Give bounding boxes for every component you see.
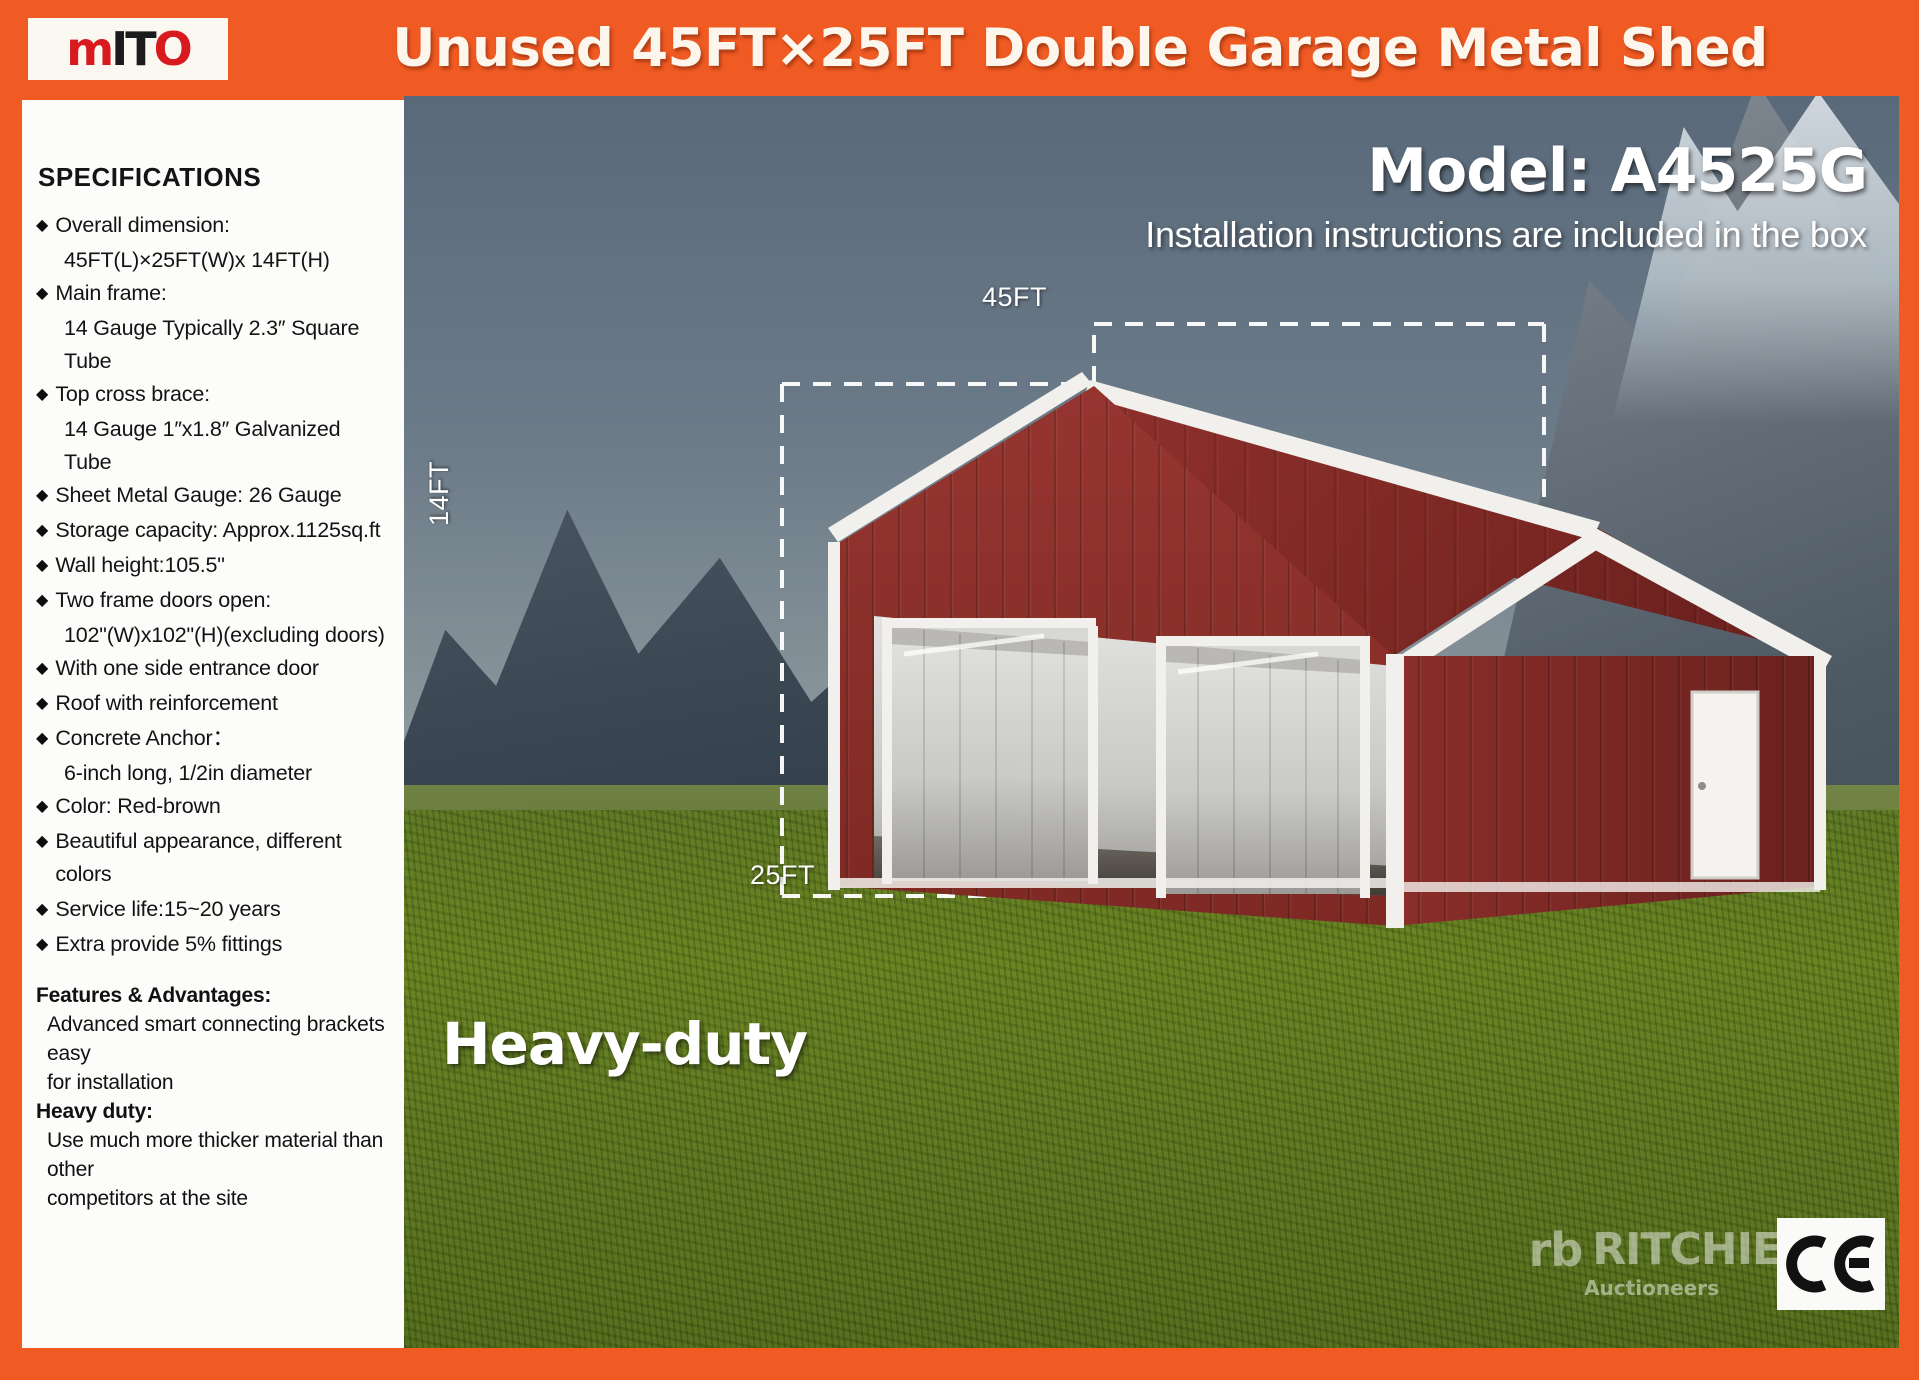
features-body-line: Advanced smart connecting brackets easy xyxy=(47,1010,392,1068)
spec-detail: 14 Gauge Typically 2.3″ Square Tube xyxy=(64,312,392,378)
metal-shed-illustration xyxy=(404,96,1899,1348)
diamond-bullet-icon: ◆ xyxy=(36,928,48,961)
spec-detail: 14 Gauge 1″x1.8″ Galvanized Tube xyxy=(64,413,392,479)
spec-label: Concrete Anchor： xyxy=(55,722,233,755)
dimension-label-length: 45FT xyxy=(982,282,1047,313)
spec-row: ◆ Roof with reinforcement xyxy=(36,687,392,720)
diamond-bullet-icon: ◆ xyxy=(36,378,48,411)
spec-label: Main frame: xyxy=(55,277,166,310)
spec-row: ◆ Overall dimension: xyxy=(36,209,392,242)
spec-row: ◆ Service life:15~20 years xyxy=(36,893,392,926)
spec-label: Service life:15~20 years xyxy=(55,893,280,926)
base-trim-front xyxy=(828,878,1404,888)
spec-row: ◆ Top cross brace: xyxy=(36,378,392,411)
spec-label: Extra provide 5% fittings xyxy=(55,928,282,961)
garage-door-interior-right xyxy=(1164,644,1364,894)
ce-mark-badge xyxy=(1777,1218,1885,1310)
heavy-duty-heading: Heavy duty: xyxy=(36,1097,392,1126)
spec-label: Beautiful appearance, different colors xyxy=(55,825,392,891)
ce-mark-icon xyxy=(1786,1233,1876,1295)
heavy-duty-body-line: competitors at the site xyxy=(47,1184,392,1213)
specifications-heading: SPECIFICATIONS xyxy=(38,162,392,193)
corner-trim-right xyxy=(1814,654,1826,890)
page-title: Unused 45FT×25FT Double Garage Metal She… xyxy=(250,0,1910,96)
garage-door-interior-left xyxy=(890,626,1090,881)
diamond-bullet-icon: ◆ xyxy=(36,893,48,926)
product-poster: mITO Unused 45FT×25FT Double Garage Meta… xyxy=(0,0,1919,1380)
spec-detail: 102"(W)x102"(H)(excluding doors) xyxy=(64,619,392,652)
door-frame-top-right xyxy=(1156,636,1370,646)
spec-label: Color: Red-brown xyxy=(55,790,220,823)
logo-letter-m: m xyxy=(66,22,111,76)
spec-label: Overall dimension: xyxy=(55,209,229,242)
spec-row: ◆ Sheet Metal Gauge: 26 Gauge xyxy=(36,479,392,512)
diamond-bullet-icon: ◆ xyxy=(36,825,48,858)
door-frame-side-left-a xyxy=(882,618,892,884)
diamond-bullet-icon: ◆ xyxy=(36,549,48,582)
logo-letter-o: O xyxy=(154,22,190,76)
heavy-duty-caption: Heavy-duty xyxy=(442,1010,807,1078)
spec-label: Wall height:105.5" xyxy=(55,549,224,582)
diamond-bullet-icon: ◆ xyxy=(36,514,48,547)
diamond-bullet-icon: ◆ xyxy=(36,209,48,242)
features-body-line: for installation xyxy=(47,1068,392,1097)
spec-label: Storage capacity: Approx.1125sq.ft xyxy=(55,514,380,547)
mito-logo-text: mITO xyxy=(66,26,190,72)
spec-label: Top cross brace: xyxy=(55,378,210,411)
heavy-duty-body-line: Use much more thicker material than othe… xyxy=(47,1126,392,1184)
spec-label: With one side entrance door xyxy=(55,652,319,685)
product-photo: Model: A4525G Installation instructions … xyxy=(404,96,1899,1348)
diamond-bullet-icon: ◆ xyxy=(36,722,48,755)
dimension-label-width: 25FT xyxy=(750,860,815,891)
spec-label: Two frame doors open: xyxy=(55,584,271,617)
spec-row: ◆ Two frame doors open: xyxy=(36,584,392,617)
diamond-bullet-icon: ◆ xyxy=(36,687,48,720)
door-frame-side-left-b xyxy=(1088,626,1098,884)
spec-row: ◆ Storage capacity: Approx.1125sq.ft xyxy=(36,514,392,547)
diamond-bullet-icon: ◆ xyxy=(36,652,48,685)
mito-logo: mITO xyxy=(28,18,228,80)
spec-label: Roof with reinforcement xyxy=(55,687,277,720)
spec-row: ◆ Concrete Anchor： xyxy=(36,722,392,755)
spec-label: Sheet Metal Gauge: 26 Gauge xyxy=(55,479,341,512)
diamond-bullet-icon: ◆ xyxy=(36,479,48,512)
diamond-bullet-icon: ◆ xyxy=(36,790,48,823)
features-advantages-block: Features & Advantages: Advanced smart co… xyxy=(36,981,392,1213)
base-trim-side xyxy=(1400,882,1820,892)
diamond-bullet-icon: ◆ xyxy=(36,584,48,617)
door-frame-side-right-b xyxy=(1360,644,1370,898)
diamond-bullet-icon: ◆ xyxy=(36,277,48,310)
features-heading: Features & Advantages: xyxy=(36,981,392,1010)
door-frame-top-left xyxy=(882,618,1096,628)
installation-note: Installation instructions are included i… xyxy=(1145,214,1867,256)
door-frame-side-right-a xyxy=(1156,636,1166,898)
dimension-label-height: 14FT xyxy=(424,461,455,526)
spec-row: ◆ Extra provide 5% fittings xyxy=(36,928,392,961)
corner-trim-left xyxy=(828,542,840,890)
spec-row: ◆ With one side entrance door xyxy=(36,652,392,685)
spec-row: ◆ Wall height:105.5" xyxy=(36,549,392,582)
spec-row: ◆ Beautiful appearance, different colors xyxy=(36,825,392,891)
door-handle-icon[interactable] xyxy=(1698,782,1706,790)
spec-row: ◆ Main frame: xyxy=(36,277,392,310)
logo-letter-it: IT xyxy=(111,22,154,76)
header-bar: mITO Unused 45FT×25FT Double Garage Meta… xyxy=(0,0,1919,96)
spec-detail: 45FT(L)×25FT(W)x 14FT(H) xyxy=(64,244,392,277)
specifications-panel: SPECIFICATIONS ◆ Overall dimension: 45FT… xyxy=(22,100,404,1348)
spec-row: ◆ Color: Red-brown xyxy=(36,790,392,823)
model-label: Model: A4525G xyxy=(1367,136,1867,206)
spec-detail: 6-inch long, 1/2in diameter xyxy=(64,757,392,790)
